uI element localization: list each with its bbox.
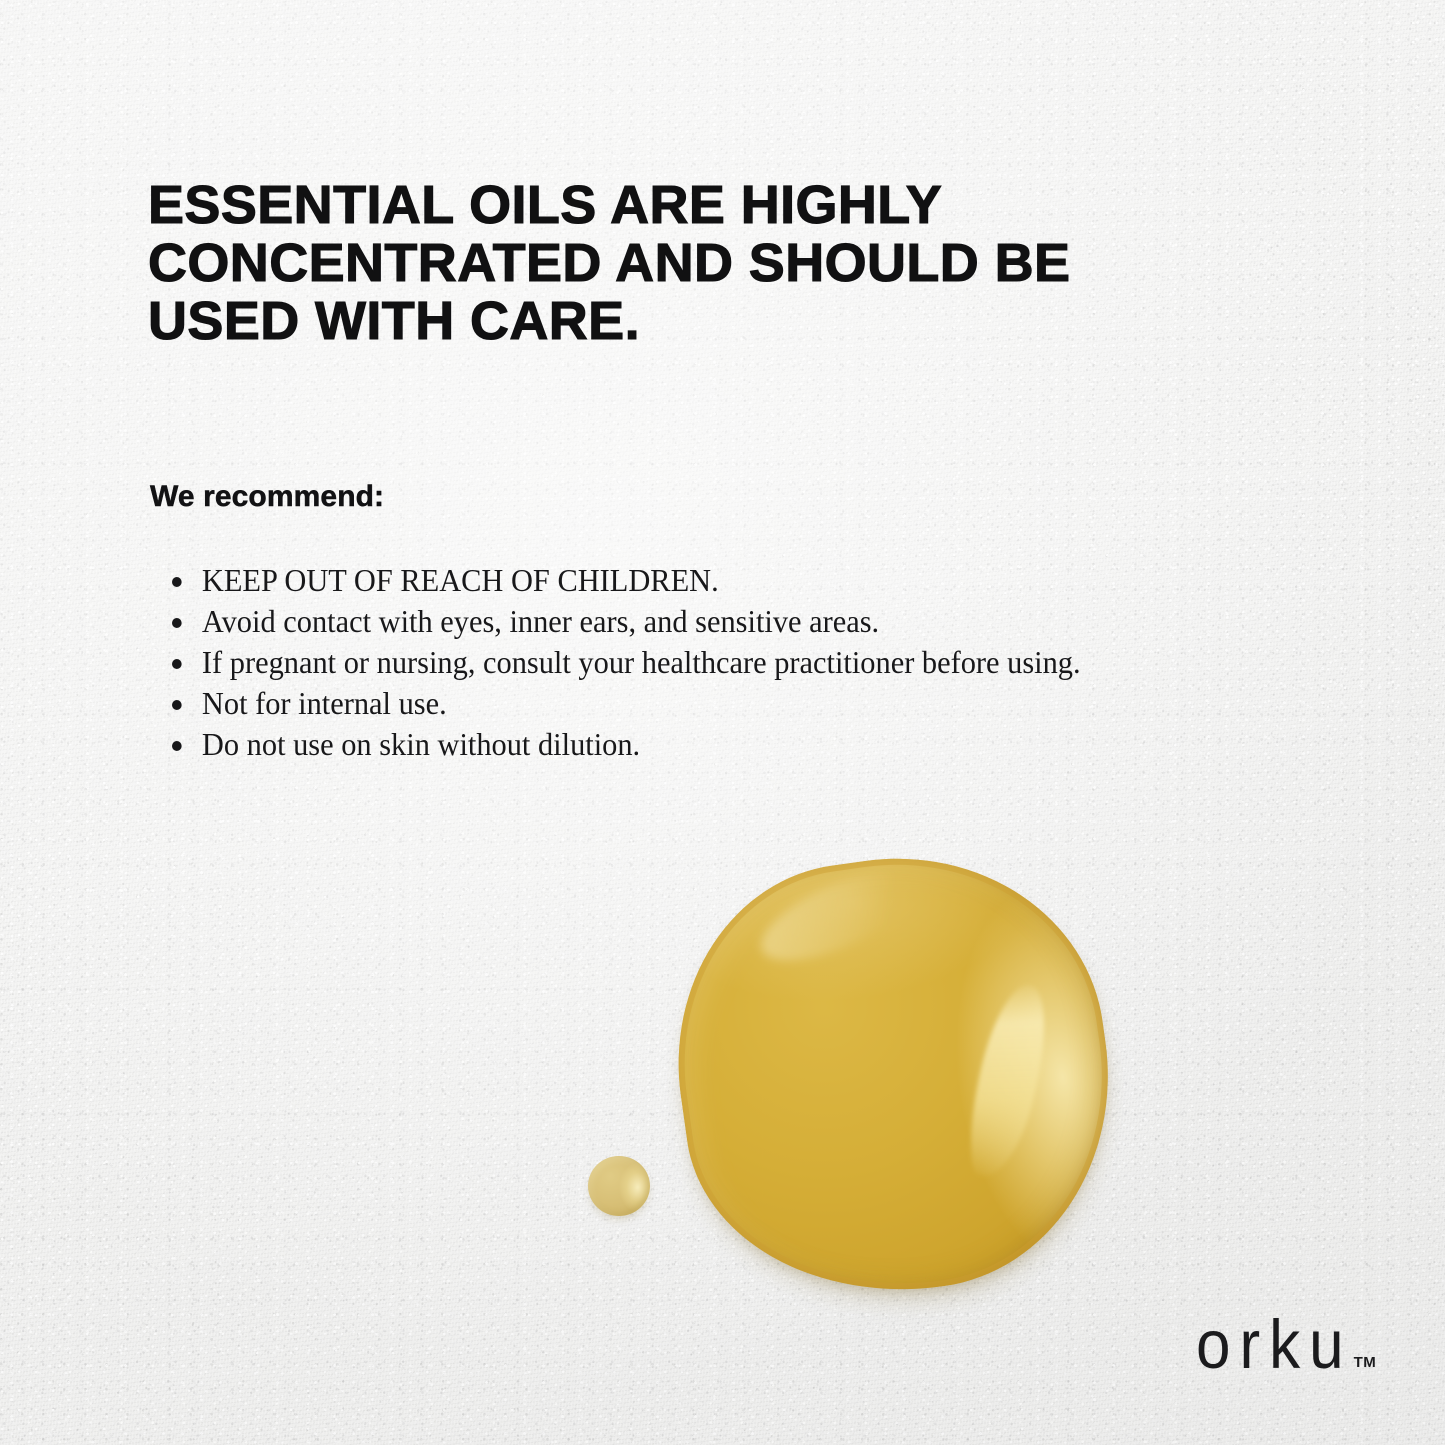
bullet-point-icon — [172, 659, 182, 669]
list-item: Do not use on skin without dilution. — [172, 724, 1330, 765]
recommendation-list: KEEP OUT OF REACH OF CHILDREN. Avoid con… — [172, 560, 1372, 765]
oil-droplet-main — [652, 831, 1136, 1318]
oil-droplet-illustration — [575, 845, 1135, 1315]
list-item: If pregnant or nursing, consult your hea… — [172, 642, 1330, 683]
list-item: Not for internal use. — [172, 683, 1330, 724]
list-item-label: Avoid contact with eyes, inner ears, and… — [202, 604, 879, 639]
list-item: Avoid contact with eyes, inner ears, and… — [172, 601, 1330, 642]
list-item-label: If pregnant or nursing, consult your hea… — [202, 645, 1081, 680]
card-content: ESSENTIAL OILS ARE HIGHLY CONCENTRATED A… — [0, 0, 1445, 1445]
list-item: KEEP OUT OF REACH OF CHILDREN. — [172, 560, 1330, 601]
headline-text: ESSENTIAL OILS ARE HIGHLY CONCENTRATED A… — [148, 176, 1338, 350]
safety-info-card: ESSENTIAL OILS ARE HIGHLY CONCENTRATED A… — [0, 0, 1445, 1445]
list-item-label: KEEP OUT OF REACH OF CHILDREN. — [202, 563, 719, 598]
brand-wordmark: orku — [1196, 1312, 1353, 1380]
list-item-label: Not for internal use. — [202, 686, 447, 721]
brand-logo: orku TM — [1196, 1318, 1376, 1380]
list-item-label: Do not use on skin without dilution. — [202, 727, 640, 762]
bullet-point-icon — [172, 618, 182, 628]
trademark-symbol: TM — [1354, 1354, 1377, 1371]
bullet-point-icon — [172, 741, 182, 751]
bullet-point-icon — [172, 577, 182, 587]
bullet-point-icon — [172, 700, 182, 710]
recommend-subheading: We recommend: — [150, 480, 384, 514]
oil-droplet-satellite — [588, 1156, 650, 1216]
